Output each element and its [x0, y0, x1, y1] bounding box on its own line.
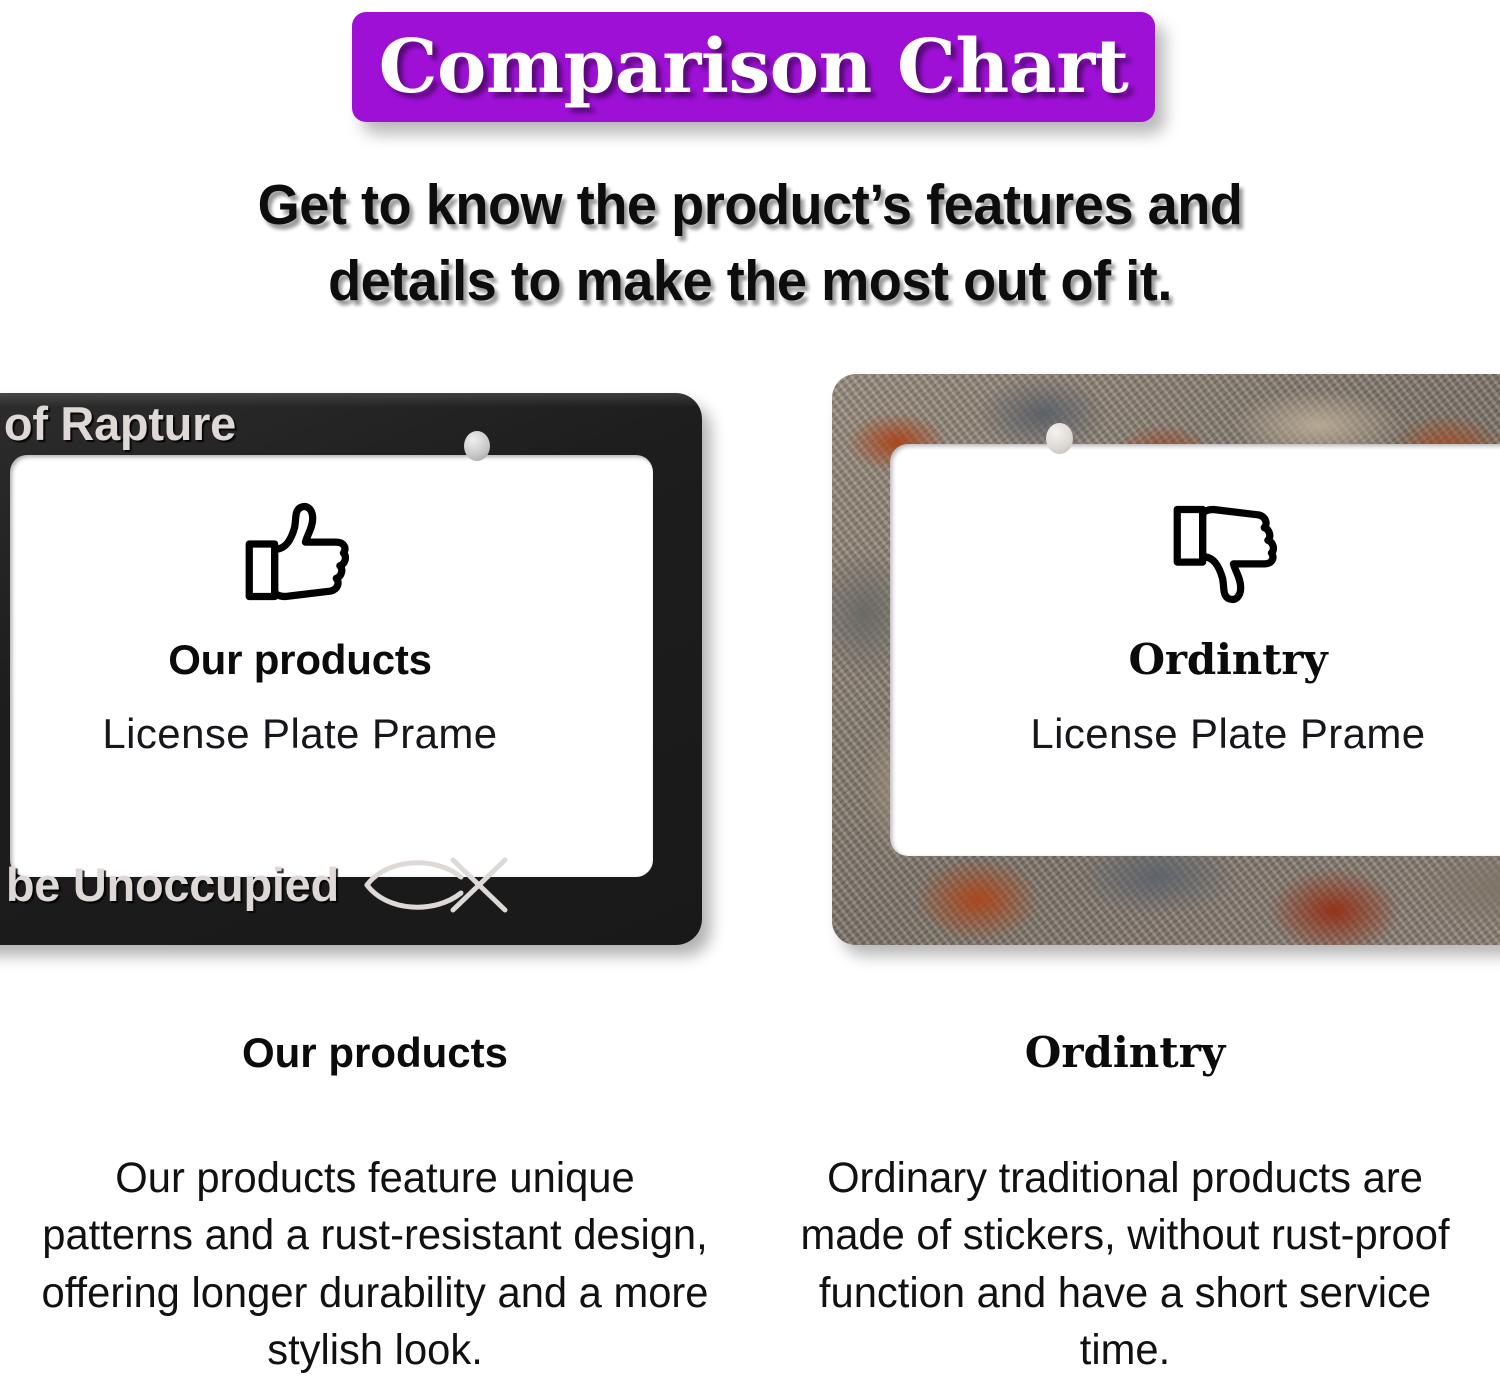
- frame-bottom-row: e will be Unoccupied: [0, 854, 670, 916]
- page-subtitle: Get to know the product’s features and d…: [38, 168, 1463, 320]
- ordinary-product-subtitle: License Plate Prame: [968, 711, 1488, 757]
- comparison-column-description-ordinary: Ordinary traditional products are made o…: [785, 1150, 1466, 1379]
- subtitle-line-2: details to make the most out of it.: [38, 244, 1463, 320]
- ordinary-product-window-content: Ordintry License Plate Prame: [968, 495, 1488, 757]
- frame-bottom-engraved-text: e will be Unoccupied: [0, 859, 339, 911]
- frame-top-engraved-text: Case of Rapture: [0, 399, 410, 449]
- comparison-columns: Our products Our products feature unique…: [0, 1030, 1500, 1379]
- ichthys-fish-icon: [361, 854, 511, 916]
- comparison-column-title-ours: Our products: [24, 1030, 726, 1076]
- our-product-name: Our products: [40, 637, 560, 683]
- subtitle-line-1: Get to know the product’s features and: [38, 168, 1463, 244]
- ordinary-product-name: Ordintry: [968, 637, 1488, 683]
- thumbs-down-icon: [1170, 495, 1286, 611]
- comparison-column-ordinary: Ordintry Ordinary traditional products a…: [750, 1030, 1500, 1379]
- comparison-column-description-ours: Our products feature unique patterns and…: [35, 1150, 716, 1379]
- comparison-chart-banner: Comparison Chart: [352, 12, 1155, 122]
- our-product-window-content: Our products License Plate Prame: [40, 495, 560, 757]
- black-frame-mounting-hole: [464, 431, 490, 461]
- rusty-frame-mounting-hole: [1046, 423, 1073, 454]
- page-title: Comparison Chart: [379, 30, 1129, 104]
- comparison-column-title-ordinary: Ordintry: [774, 1030, 1476, 1076]
- thumbs-up-icon: [242, 495, 358, 611]
- our-product-subtitle: License Plate Prame: [40, 711, 560, 757]
- comparison-column-ours: Our products Our products feature unique…: [0, 1030, 750, 1379]
